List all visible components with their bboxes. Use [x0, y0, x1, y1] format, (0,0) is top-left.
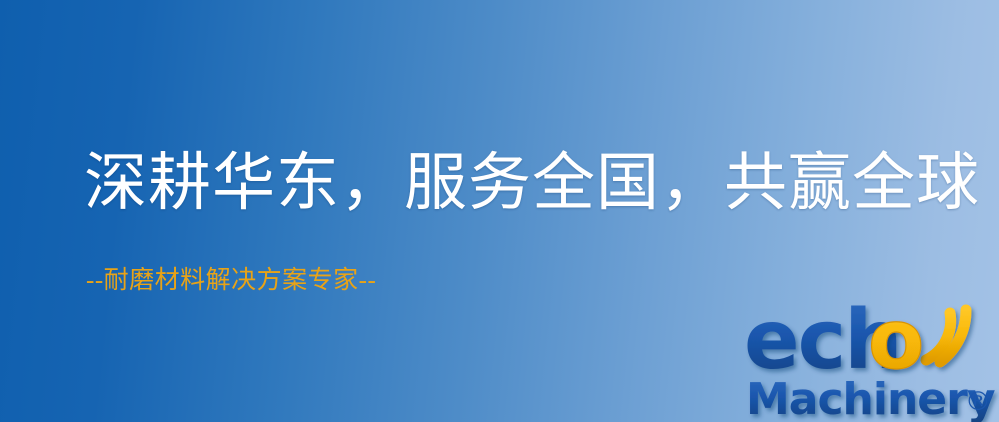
signal-arcs-icon	[926, 310, 966, 362]
promo-banner: 深耕华东，服务全国，共赢全球 --耐磨材料解决方案专家--	[0, 0, 999, 422]
logo-machinery-text: Machinery	[746, 374, 995, 422]
logo-tagline: Machinery ®	[746, 374, 995, 422]
registered-trademark-icon: ®	[965, 387, 991, 417]
banner-headline: 深耕华东，服务全国，共赢全球	[84, 152, 980, 215]
echo-machinery-logo: ech o Machinery ®	[744, 292, 999, 422]
banner-subtitle: --耐磨材料解决方案专家--	[86, 268, 376, 293]
